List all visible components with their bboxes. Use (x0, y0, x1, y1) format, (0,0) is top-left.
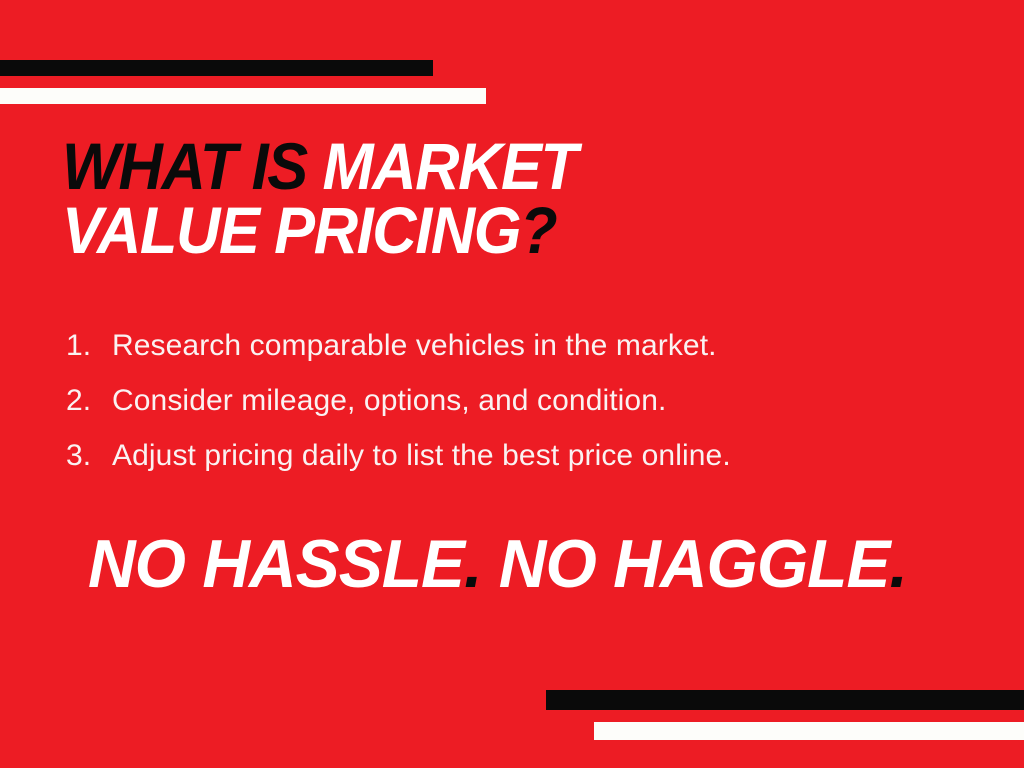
tagline-period-1: . (464, 526, 481, 602)
list-item-number: 2. (66, 373, 112, 428)
tagline-period-2: . (890, 526, 907, 602)
list-item-label: Adjust pricing daily to list the best pr… (112, 428, 731, 483)
headline-value-pricing: VALUE PRICING (62, 193, 520, 267)
list-item: 2. Consider mileage, options, and condit… (66, 373, 986, 428)
numbered-steps-list: 1. Research comparable vehicles in the m… (66, 318, 986, 483)
slide-canvas: WHAT IS MARKET VALUE PRICING? 1. Researc… (0, 0, 1024, 768)
tagline-no-hassle: NO HASSLE (88, 526, 464, 602)
decorative-bar-bottom-white (594, 722, 1024, 740)
page-title: WHAT IS MARKET VALUE PRICING? (62, 134, 962, 262)
list-item-label: Research comparable vehicles in the mark… (112, 318, 717, 373)
list-item-label: Consider mileage, options, and condition… (112, 373, 666, 428)
headline-line-2: VALUE PRICING? (62, 198, 899, 262)
tagline-no-haggle: NO HAGGLE (481, 526, 889, 602)
decorative-bar-bottom-black (546, 690, 1024, 710)
tagline: NO HASSLE. NO HAGGLE. (88, 528, 907, 600)
list-item: 1. Research comparable vehicles in the m… (66, 318, 986, 373)
headline-market: MARKET (322, 129, 576, 203)
headline-question-mark: ? (520, 193, 556, 267)
headline-what-is: WHAT IS (62, 129, 322, 203)
decorative-bar-top-white (0, 88, 486, 104)
list-item-number: 1. (66, 318, 112, 373)
list-item: 3. Adjust pricing daily to list the best… (66, 428, 986, 483)
headline-line-1: WHAT IS MARKET (62, 134, 899, 198)
list-item-number: 3. (66, 428, 112, 483)
decorative-bar-top-black (0, 60, 433, 76)
